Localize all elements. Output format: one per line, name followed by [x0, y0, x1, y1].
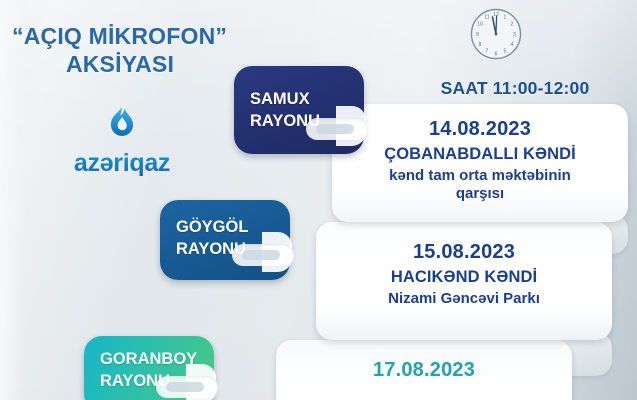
- gas-flame-icon: [52, 106, 192, 145]
- svg-text:5: 5: [504, 49, 507, 55]
- svg-text:2: 2: [511, 22, 514, 28]
- svg-text:1: 1: [504, 15, 507, 21]
- headline-line-1: “AÇIQ MİKROFON”: [12, 22, 262, 50]
- event-place: HACIKƏND KƏNDİ: [330, 267, 598, 288]
- tab-connector: [156, 376, 218, 398]
- brand-logo: azəriqaz: [52, 106, 192, 178]
- svg-text:3: 3: [513, 32, 516, 38]
- event-date: 14.08.2023: [346, 117, 614, 141]
- page-title: “AÇIQ MİKROFON” AKSİYASI: [12, 22, 262, 78]
- event-detail: kənd tam orta məktəbinin qarşısı: [346, 167, 614, 204]
- svg-text:4: 4: [511, 42, 514, 48]
- event-card-3[interactable]: 17.08.2023: [276, 340, 572, 400]
- event-date: 15.08.2023: [330, 240, 598, 264]
- event-place: ÇOBANABDALLI KƏNDİ: [346, 144, 614, 165]
- tab-connector: [306, 118, 368, 140]
- region-tab-goranboy[interactable]: GORANBOY RAYONU: [84, 336, 214, 400]
- headline-line-2: AKSİYASI: [12, 50, 262, 78]
- event-detail: Nizami Gəncəvi Parkı: [330, 290, 598, 308]
- region-tab-samux[interactable]: SAMUX RAYONU: [234, 66, 364, 154]
- svg-text:8: 8: [479, 42, 482, 48]
- time-range-label: SAAT 11:00-12:00: [410, 78, 620, 99]
- poster-canvas: “AÇIQ MİKROFON” AKSİYASI azəriqaz: [0, 0, 637, 400]
- svg-text:9: 9: [476, 32, 479, 38]
- svg-text:10: 10: [477, 22, 483, 28]
- svg-text:6: 6: [495, 52, 498, 58]
- event-card-2[interactable]: 15.08.2023 HACIKƏND KƏNDİ Nizami Gəncəvi…: [316, 222, 612, 340]
- event-card-1[interactable]: 14.08.2023 ÇOBANABDALLI KƏNDİ kənd tam o…: [332, 104, 628, 222]
- region-tab-goygol[interactable]: GÖYGÖL RAYONU: [160, 200, 290, 280]
- brand-name: azəriqaz: [52, 149, 192, 178]
- event-date: 17.08.2023: [290, 358, 558, 382]
- tab-connector: [232, 244, 294, 266]
- svg-text:7: 7: [486, 49, 489, 55]
- analog-clock-icon: 12 1 2 3 4 5 6 7 8 9 10 11: [468, 6, 524, 67]
- svg-text:11: 11: [484, 15, 489, 21]
